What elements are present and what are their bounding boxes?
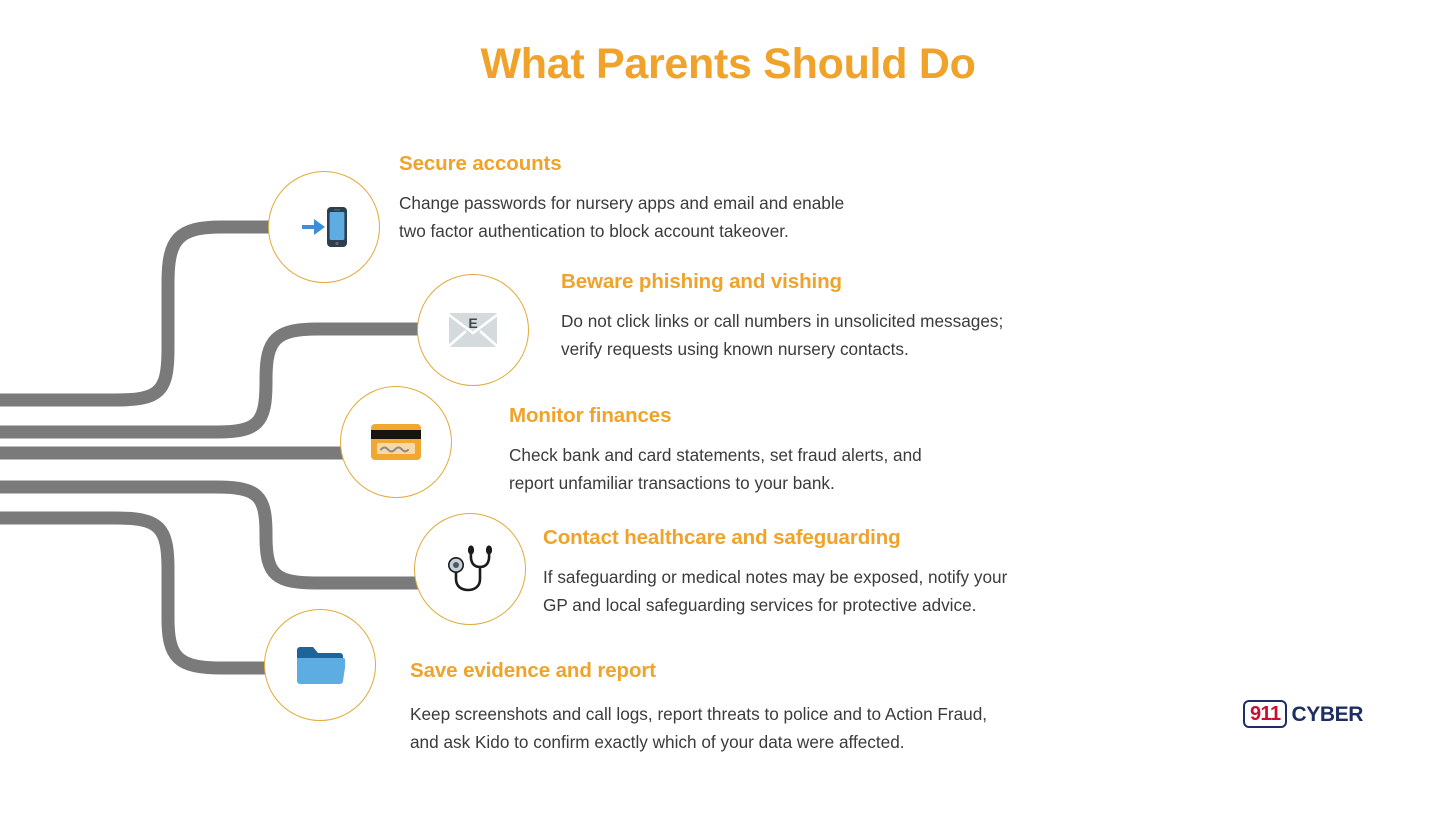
item-text-3: Monitor finances Check bank and card sta… bbox=[509, 404, 1069, 497]
icon-circle-5 bbox=[264, 609, 376, 721]
item-text-2: Beware phishing and vishing Do not click… bbox=[561, 270, 1121, 363]
item-text-5: Save evidence and report Keep screenshot… bbox=[410, 659, 1110, 756]
item-body-5: Keep screenshots and call logs, report t… bbox=[410, 701, 1110, 756]
item-heading-5: Save evidence and report bbox=[410, 659, 1110, 683]
logo-911-text: 911 bbox=[1250, 704, 1280, 724]
infographic-canvas: What Parents Should Do Secure acco bbox=[0, 0, 1456, 819]
item-text-4: Contact healthcare and safeguarding If s… bbox=[543, 526, 1123, 619]
item-heading-1: Secure accounts bbox=[399, 152, 959, 176]
connector-4 bbox=[0, 487, 420, 583]
item-body-1: Change passwords for nursery apps and em… bbox=[399, 190, 959, 245]
folder-icon bbox=[295, 644, 345, 686]
brand-logo: 911 CYBER bbox=[1243, 700, 1363, 728]
icon-circle-3 bbox=[340, 386, 452, 498]
connector-5 bbox=[0, 518, 272, 668]
item-body-3: Check bank and card statements, set frau… bbox=[509, 442, 1069, 497]
icon-circle-4 bbox=[414, 513, 526, 625]
item-heading-3: Monitor finances bbox=[509, 404, 1069, 428]
item-heading-4: Contact healthcare and safeguarding bbox=[543, 526, 1123, 550]
item-body-2: Do not click links or call numbers in un… bbox=[561, 308, 1121, 363]
mobile-phone-login-icon bbox=[298, 203, 350, 251]
stethoscope-icon bbox=[443, 543, 497, 595]
logo-badge: 911 bbox=[1243, 700, 1287, 728]
connector-1 bbox=[0, 227, 272, 400]
icon-circle-1 bbox=[268, 171, 380, 283]
item-text-1: Secure accounts Change passwords for nur… bbox=[399, 152, 959, 245]
icon-circle-2: E bbox=[417, 274, 529, 386]
item-heading-2: Beware phishing and vishing bbox=[561, 270, 1121, 294]
credit-card-icon bbox=[370, 423, 422, 461]
svg-text:E: E bbox=[468, 315, 477, 331]
email-envelope-icon: E bbox=[448, 310, 498, 350]
logo-cyber-text: CYBER bbox=[1291, 704, 1363, 725]
item-body-4: If safeguarding or medical notes may be … bbox=[543, 564, 1123, 619]
page-title: What Parents Should Do bbox=[0, 40, 1456, 89]
